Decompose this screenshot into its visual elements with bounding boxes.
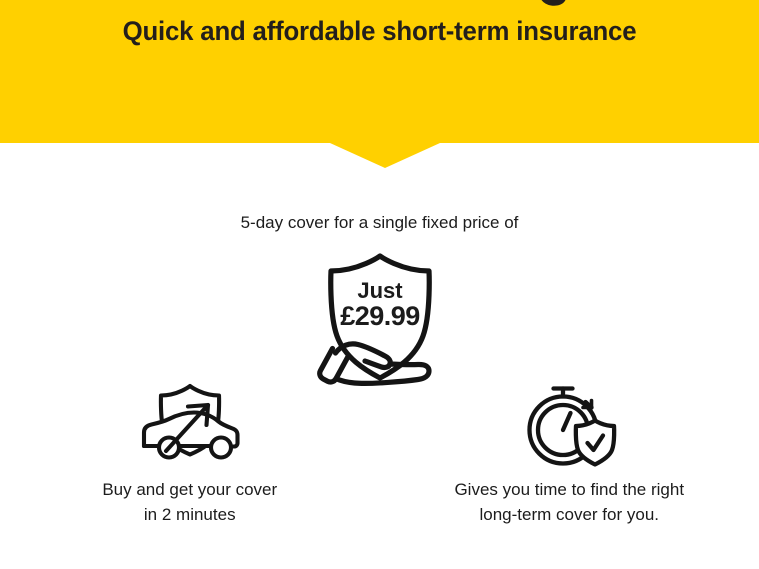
car-with-shield-arrow-icon	[136, 378, 244, 470]
shield-in-hand-icon: Just £29.99	[307, 252, 453, 392]
feature-list: Buy and get your cover in 2 minutes Giv	[0, 378, 759, 527]
price-lead-text: 5-day cover for a single fixed price of	[0, 213, 759, 233]
hero-banner: Quick and affordable short-term insuranc…	[0, 0, 759, 143]
feature-caption: Gives you time to find the right long-te…	[454, 478, 684, 527]
feature-item-time-to-choose: Gives you time to find the right long-te…	[380, 378, 759, 527]
banner-notch-arrow	[330, 143, 440, 168]
stopwatch-with-shield-check-icon	[519, 378, 619, 470]
feature-item-quick-cover: Buy and get your cover in 2 minutes	[0, 378, 380, 527]
page-title: Quick and affordable short-term insuranc…	[17, 16, 742, 47]
feature-caption: Buy and get your cover in 2 minutes	[102, 478, 277, 527]
cropped-headline-glyph	[539, 0, 568, 8]
